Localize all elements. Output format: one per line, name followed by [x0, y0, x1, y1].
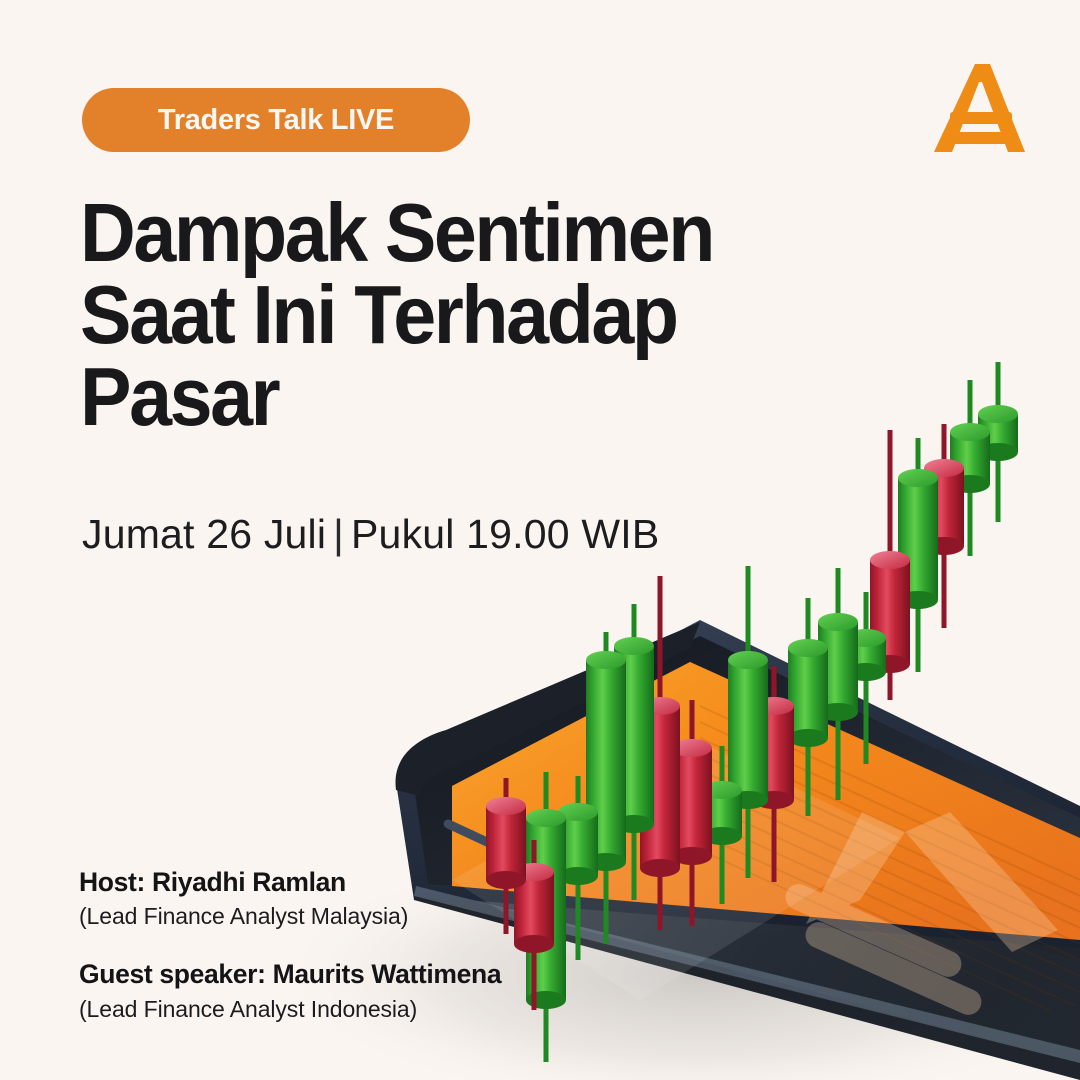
- live-badge[interactable]: Traders Talk LIVE: [82, 88, 470, 152]
- guest-role: (Lead Finance Analyst Indonesia): [79, 995, 549, 1025]
- schedule-line: Jumat 26 Juli|Pukul 19.00 WIB: [82, 511, 659, 558]
- schedule-time: Pukul 19.00 WIB: [351, 511, 659, 557]
- host-role: (Lead Finance Analyst Malaysia): [79, 902, 549, 932]
- schedule-date: Jumat 26 Juli: [82, 511, 326, 557]
- guest-name: Guest speaker: Maurits Wattimena: [79, 958, 549, 990]
- poster-canvas: Traders Talk LIVE Dampak Sentimen Saat I…: [0, 0, 1080, 1080]
- austral-a-logo-icon: [928, 60, 1028, 158]
- speaker-list: Host: Riyadhi Ramlan (Lead Finance Analy…: [79, 866, 549, 1050]
- page-title: Dampak Sentimen Saat Ini Terhadap Pasar: [80, 192, 787, 438]
- schedule-separator: |: [326, 511, 351, 557]
- speaker-host: Host: Riyadhi Ramlan (Lead Finance Analy…: [79, 866, 549, 932]
- headline-line-1: Dampak Sentimen: [80, 192, 787, 274]
- live-badge-label: Traders Talk LIVE: [158, 104, 394, 137]
- headline-line-2: Saat Ini Terhadap: [80, 274, 787, 356]
- headline-line-3: Pasar: [80, 356, 787, 438]
- speaker-guest: Guest speaker: Maurits Wattimena (Lead F…: [79, 958, 549, 1024]
- host-name: Host: Riyadhi Ramlan: [79, 866, 549, 898]
